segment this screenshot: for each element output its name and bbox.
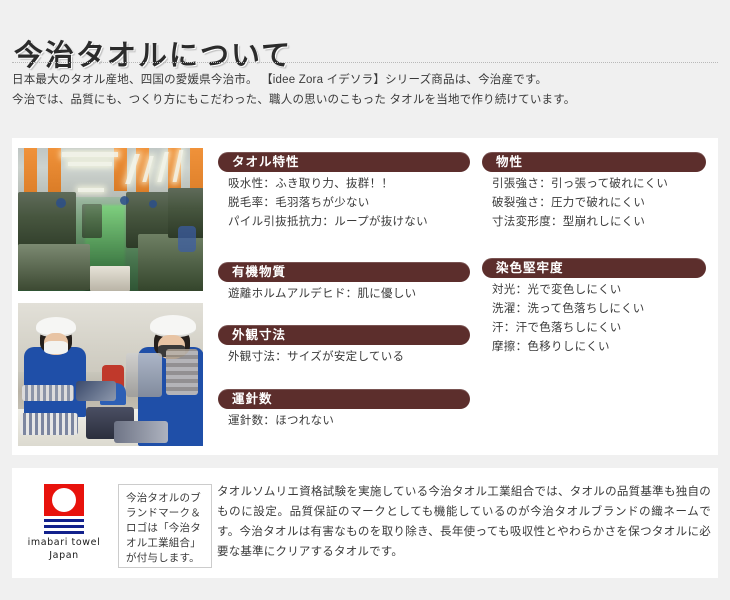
section-heading: 染色堅牢度	[482, 258, 706, 278]
logo-caption: 今治タオルのブランドマーク＆ロゴは「今治タオル工業組合」が付与します。	[118, 484, 212, 568]
section-line: 寸法変形度：型崩れしにくい	[492, 213, 706, 232]
logo-line-1: imabari towel	[18, 536, 110, 549]
page-title: 今治タオルについて	[14, 39, 292, 73]
section-stitch-count: 運針数 運針数：ほつれない	[218, 389, 470, 431]
section-line: 汗：汗で色落ちしにくい	[492, 319, 706, 338]
section-heading: 物性	[482, 152, 706, 172]
section-heading: 外観寸法	[218, 325, 470, 345]
section-line: 運針数：ほつれない	[228, 412, 470, 431]
section-line: 脱毛率：毛羽落ちが少ない	[228, 194, 470, 213]
section-heading: 有機物質	[218, 262, 470, 282]
section-body: 外観寸法：サイズが安定している	[218, 348, 470, 367]
section-body: 運針数：ほつれない	[218, 412, 470, 431]
intro-paragraph: 日本最大のタオル産地、四国の愛媛県今治市。 【idee Zora イデソラ】シリ…	[12, 70, 718, 110]
section-line: 吸水性：ふき取り力、抜群！！	[228, 175, 470, 194]
section-towel-characteristics: タオル特性 吸水性：ふき取り力、抜群！！ 脱毛率：毛羽落ちが少ない パイル引抜抵…	[218, 152, 470, 232]
workers-folding-photo	[18, 303, 203, 446]
section-body: 引張強さ：引っ張って破れにくい 破裂強さ：圧力で破れにくい 寸法変形度：型崩れし…	[482, 175, 706, 232]
title-divider	[12, 62, 718, 63]
weaving-factory-photo	[18, 148, 203, 291]
logo-line-2: Japan	[18, 549, 110, 562]
section-heading: 運針数	[218, 389, 470, 409]
section-organic-substance: 有機物質 遊離ホルムアルデヒド：肌に優しい	[218, 262, 470, 304]
section-line: パイル引抜抵抗力：ループが抜けない	[228, 213, 470, 232]
brand-description: タオルソムリエ資格試験を実施している今治タオル工業組合では、タオルの品質基準も独…	[217, 482, 711, 562]
intro-line-1: 日本最大のタオル産地、四国の愛媛県今治市。 【idee Zora イデソラ】シリ…	[12, 70, 718, 90]
imabari-towel-page: 今治タオルについて 日本最大のタオル産地、四国の愛媛県今治市。 【idee Zo…	[0, 0, 730, 600]
logo-blue-bars-icon	[44, 519, 84, 534]
imabari-towel-logo: imabari towel Japan	[18, 474, 110, 572]
section-appearance-dimension: 外観寸法 外観寸法：サイズが安定している	[218, 325, 470, 367]
section-body: 吸水性：ふき取り力、抜群！！ 脱毛率：毛羽落ちが少ない パイル引抜抵抗力：ループ…	[218, 175, 470, 232]
section-line: 対光：光で変色しにくい	[492, 281, 706, 300]
intro-line-2: 今治では、品質にも、つくり方にもこだわった、職人の思いのこもった タオルを当地で…	[12, 90, 718, 110]
logo-white-circle-icon	[52, 488, 76, 512]
section-body: 遊離ホルムアルデヒド：肌に優しい	[218, 285, 470, 304]
section-line: 破裂強さ：圧力で破れにくい	[492, 194, 706, 213]
logo-red-square-icon	[44, 484, 84, 516]
logo-mark	[44, 484, 84, 537]
section-line: 外観寸法：サイズが安定している	[228, 348, 470, 367]
section-color-fastness: 染色堅牢度 対光：光で変色しにくい 洗濯：洗って色落ちしにくい 汗：汗で色落ちし…	[482, 258, 706, 357]
section-body: 対光：光で変色しにくい 洗濯：洗って色落ちしにくい 汗：汗で色落ちしにくい 摩擦…	[482, 281, 706, 357]
section-line: 引張強さ：引っ張って破れにくい	[492, 175, 706, 194]
section-line: 遊離ホルムアルデヒド：肌に優しい	[228, 285, 470, 304]
section-line: 洗濯：洗って色落ちしにくい	[492, 300, 706, 319]
section-physical-properties: 物性 引張強さ：引っ張って破れにくい 破裂強さ：圧力で破れにくい 寸法変形度：型…	[482, 152, 706, 232]
section-line: 摩擦：色移りしにくい	[492, 338, 706, 357]
logo-wordmark: imabari towel Japan	[18, 536, 110, 562]
section-heading: タオル特性	[218, 152, 470, 172]
